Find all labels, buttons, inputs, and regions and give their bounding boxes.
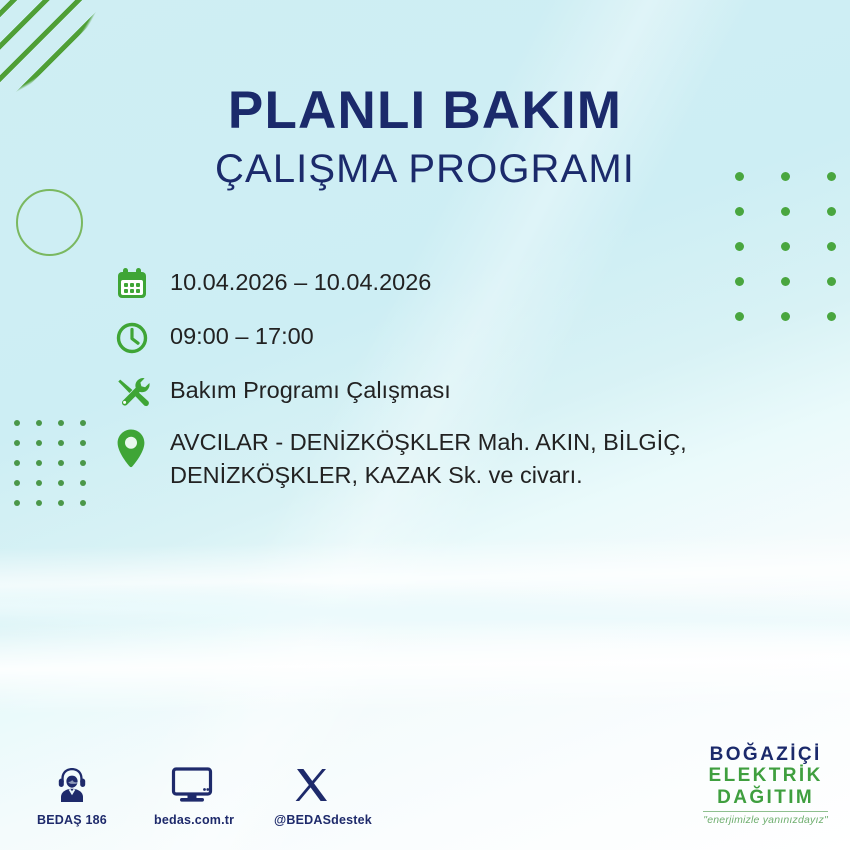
contact-website-label: bedas.com.tr [154, 813, 230, 827]
detail-row-work-type: Bakım Programı Çalışması [114, 372, 814, 410]
contact-x-label: @BEDASdestek [274, 813, 350, 827]
contact-x[interactable]: @BEDASdestek [274, 762, 350, 827]
page-title: PLANLI BAKIM ÇALIŞMA PROGRAMI [0, 84, 850, 190]
maintenance-details: 10.04.2026 – 10.04.2026 09:00 – 17:00 [114, 264, 814, 508]
time-range-text: 09:00 – 17:00 [170, 318, 314, 353]
logo-line-1: BOĞAZİÇİ [703, 744, 828, 765]
dot-grid-left-decoration [14, 420, 102, 520]
title-sub: ÇALIŞMA PROGRAMI [0, 148, 850, 190]
contact-phone-label: BEDAŞ 186 [34, 813, 110, 827]
detail-row-date: 10.04.2026 – 10.04.2026 [114, 264, 814, 302]
clock-icon [114, 318, 170, 356]
logo-line-3: DAĞITIM [703, 787, 828, 808]
address-text: AVCILAR - DENİZKÖŞKLER Mah. AKIN, BİLGİÇ… [170, 426, 814, 492]
planned-maintenance-poster: PLANLI BAKIM ÇALIŞMA PROGRAMI [0, 0, 850, 850]
logo-line-2: ELEKTRİK [703, 765, 828, 786]
contact-phone[interactable]: BEDAŞ 186 [34, 762, 110, 827]
bedas-logo: BOĞAZİÇİ ELEKTRİK DAĞITIM "enerjimizle y… [703, 744, 828, 826]
contact-website[interactable]: bedas.com.tr [154, 762, 230, 827]
headset-agent-icon [34, 762, 110, 808]
logo-tagline: "enerjimizle yanınızdayız" [703, 814, 828, 826]
wave-band-3 [0, 615, 850, 715]
circle-outline-decoration [16, 189, 83, 256]
tools-icon [114, 372, 170, 410]
location-pin-icon [114, 426, 170, 470]
calendar-icon [114, 264, 170, 302]
logo-divider [703, 811, 828, 813]
footer-contacts: BEDAŞ 186 bedas.com.tr [34, 762, 350, 827]
x-twitter-icon [274, 762, 350, 808]
wave-band-1 [0, 531, 850, 619]
title-main: PLANLI BAKIM [0, 84, 850, 138]
wave-band-2 [0, 574, 850, 655]
date-range-text: 10.04.2026 – 10.04.2026 [170, 264, 431, 299]
monitor-icon [154, 762, 230, 808]
work-type-text: Bakım Programı Çalışması [170, 372, 451, 407]
detail-row-address: AVCILAR - DENİZKÖŞKLER Mah. AKIN, BİLGİÇ… [114, 426, 814, 492]
detail-row-time: 09:00 – 17:00 [114, 318, 814, 356]
